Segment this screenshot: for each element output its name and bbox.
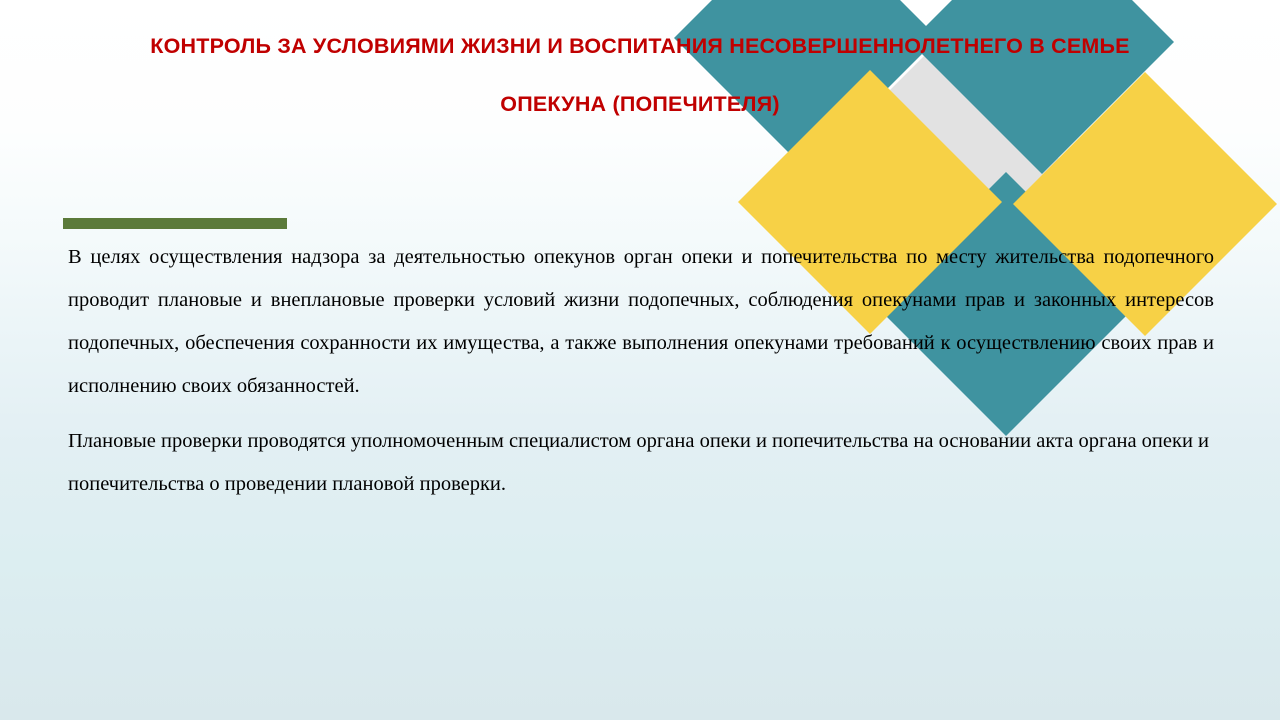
accent-bar [63,218,287,229]
body-paragraph-1: В целях осуществления надзора за деятель… [68,236,1214,408]
title-line-1: КОНТРОЛЬ ЗА УСЛОВИЯМИ ЖИЗНИ И ВОСПИТАНИЯ… [0,36,1280,58]
slide-canvas: КОНТРОЛЬ ЗА УСЛОВИЯМИ ЖИЗНИ И ВОСПИТАНИЯ… [0,0,1280,720]
page-title: КОНТРОЛЬ ЗА УСЛОВИЯМИ ЖИЗНИ И ВОСПИТАНИЯ… [0,36,1280,115]
body-paragraph-2: Плановые проверки проводятся уполномочен… [68,420,1214,506]
body-content: В целях осуществления надзора за деятель… [68,236,1214,506]
title-line-2: ОПЕКУНА (ПОПЕЧИТЕЛЯ) [0,94,1280,116]
